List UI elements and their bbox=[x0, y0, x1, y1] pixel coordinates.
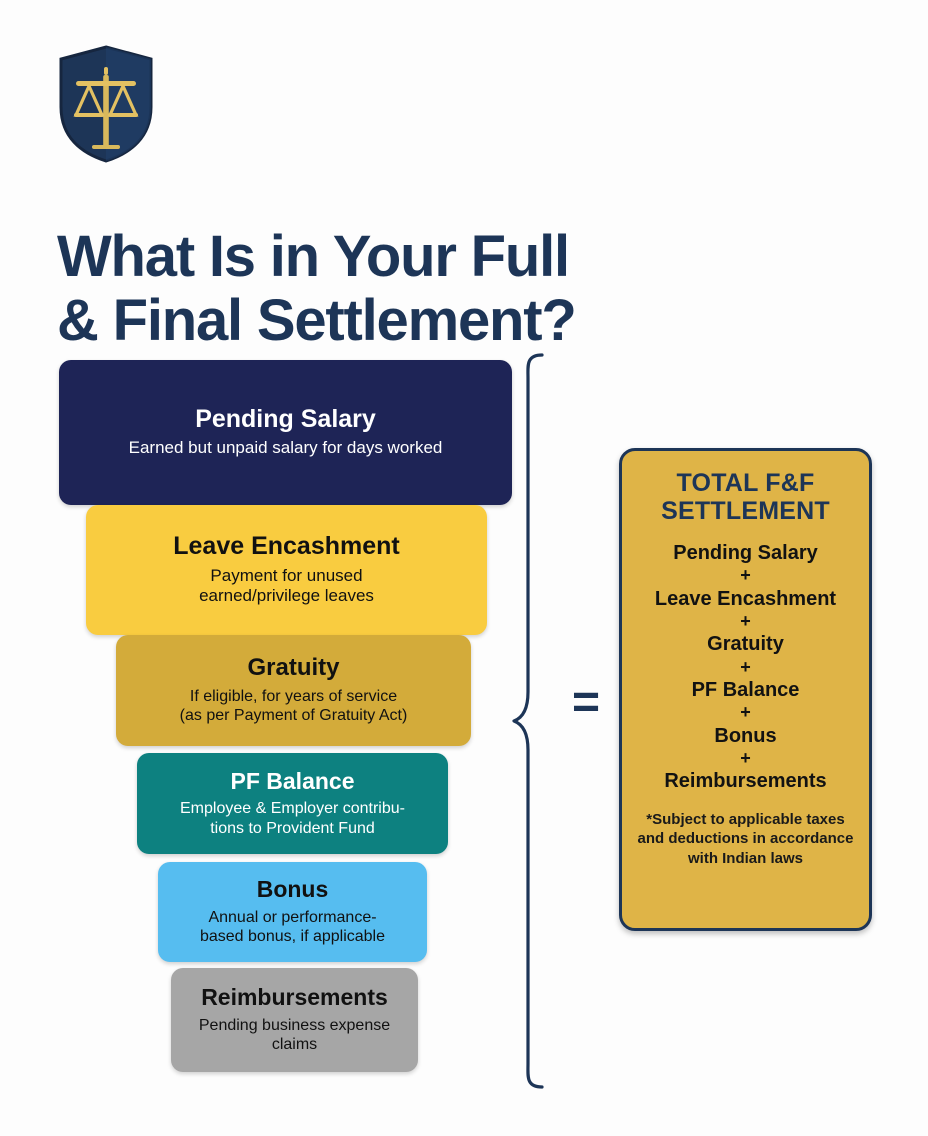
funnel-bar-title: Leave Encashment bbox=[173, 533, 400, 561]
total-panel-heading-line-2: SETTLEMENT bbox=[661, 497, 830, 525]
funnel-bar-reimbursements[interactable]: Reimbursements Pending business expensec… bbox=[171, 968, 418, 1072]
total-panel-formula: Pending Salary + Leave Encashment + Grat… bbox=[655, 541, 836, 794]
funnel-bar-title: Pending Salary bbox=[195, 406, 376, 434]
formula-item-leave-encashment: Leave Encashment bbox=[655, 587, 836, 611]
curly-brace-icon bbox=[512, 352, 558, 1090]
formula-plus: + bbox=[655, 702, 836, 723]
funnel-bar-description: Employee & Employer contribu-tions to Pr… bbox=[180, 799, 405, 838]
total-panel-heading: TOTAL F&F SETTLEMENT bbox=[661, 469, 830, 525]
funnel-bar-gratuity[interactable]: Gratuity If eligible, for years of servi… bbox=[116, 635, 471, 746]
funnel-bar-title: PF Balance bbox=[231, 769, 355, 794]
funnel-bar-description: If eligible, for years of service(as per… bbox=[180, 687, 408, 726]
total-panel-footnote: *Subject to applicable taxes and deducti… bbox=[633, 810, 859, 869]
formula-item-bonus: Bonus bbox=[655, 724, 836, 748]
formula-plus: + bbox=[655, 611, 836, 632]
formula-plus: + bbox=[655, 748, 836, 769]
funnel-bar-pending-salary[interactable]: Pending Salary Earned but unpaid salary … bbox=[59, 360, 512, 505]
funnel-bar-description: Annual or performance-based bonus, if ap… bbox=[200, 908, 385, 947]
funnel-bar-leave-encashment[interactable]: Leave Encashment Payment for unusedearne… bbox=[86, 505, 487, 635]
funnel-bar-description: Payment for unusedearned/privilege leave… bbox=[199, 566, 374, 607]
funnel-bar-title: Gratuity bbox=[247, 655, 339, 681]
funnel-bar-pf-balance[interactable]: PF Balance Employee & Employer contribu-… bbox=[137, 753, 448, 854]
funnel-bar-description: Earned but unpaid salary for days worked bbox=[129, 438, 443, 459]
equals-sign: = bbox=[563, 679, 609, 727]
formula-plus: + bbox=[655, 565, 836, 586]
funnel-bar-bonus[interactable]: Bonus Annual or performance-based bonus,… bbox=[158, 862, 427, 962]
formula-item-pf-balance: PF Balance bbox=[655, 678, 836, 702]
total-panel-heading-line-1: TOTAL F&F bbox=[661, 469, 830, 497]
infographic-page: What Is in Your Full & Final Settlement?… bbox=[0, 0, 928, 1136]
formula-plus: + bbox=[655, 657, 836, 678]
settlement-components-funnel: Pending Salary Earned but unpaid salary … bbox=[0, 0, 520, 1136]
formula-item-gratuity: Gratuity bbox=[655, 632, 836, 656]
funnel-bar-title: Reimbursements bbox=[201, 985, 388, 1010]
formula-item-reimbursements: Reimbursements bbox=[655, 769, 836, 793]
funnel-bar-title: Bonus bbox=[257, 877, 329, 902]
total-settlement-panel: TOTAL F&F SETTLEMENT Pending Salary + Le… bbox=[619, 448, 872, 931]
funnel-bar-description: Pending business expenseclaims bbox=[199, 1016, 390, 1055]
formula-item-pending-salary: Pending Salary bbox=[655, 541, 836, 565]
